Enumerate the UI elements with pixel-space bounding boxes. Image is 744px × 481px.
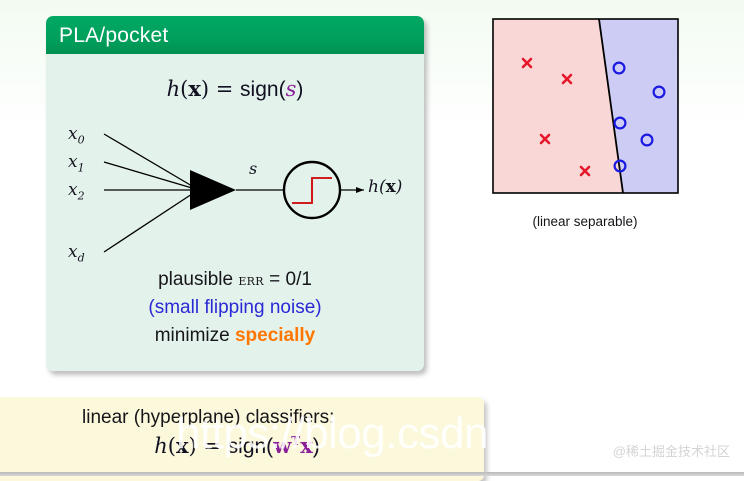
linear-classifiers-heading: linear (hyperplane) classifiers: — [82, 407, 334, 429]
summation-triangle — [190, 170, 236, 210]
bottom-formula-equals: ) = — [189, 434, 228, 458]
pla-pocket-block: PLA/pocket h(x) = sign(s) — [46, 16, 424, 371]
step-function-icon — [292, 178, 332, 203]
signal-label-s: s — [249, 159, 257, 178]
hypothesis-formula: h(x) = sign(s) — [46, 76, 424, 102]
formula-x-bold: x — [188, 76, 201, 101]
wire-x1 — [104, 162, 192, 188]
line-err-suffix: = 0/1 — [264, 269, 312, 290]
bottom-formula-w: w — [273, 433, 291, 458]
input-label-xd: xd — [68, 242, 85, 264]
pla-pocket-title: PLA/pocket — [46, 25, 168, 46]
bottom-formula-x2: x — [300, 433, 313, 458]
formula-h: h — [167, 77, 181, 101]
input-label-x1: x1 — [68, 152, 85, 174]
line-err-token: err — [238, 270, 264, 289]
pla-description-lines: plausible err = 0/1 (small flipping nois… — [46, 266, 424, 350]
line-minimize-prefix: minimize — [155, 325, 235, 346]
bottom-formula-transpose: T — [291, 434, 300, 448]
bottom-edge-strip — [0, 472, 744, 476]
site-watermark: @稀土掘金技术社区 — [613, 441, 730, 460]
formula-s: s — [286, 77, 297, 101]
input-label-x2: x2 — [68, 180, 85, 202]
pla-pocket-body: h(x) = sign(s) — [46, 54, 424, 371]
wire-x0 — [104, 134, 192, 186]
pla-pocket-header: PLA/pocket — [46, 16, 424, 54]
line-flipping-noise: (small flipping noise) — [46, 294, 424, 322]
bottom-formula-x-bold: x — [176, 433, 189, 458]
line-minimize-emphasis: specially — [235, 325, 315, 346]
bottom-formula-paren-close: ) — [313, 435, 320, 458]
scatter-caption: (linear separable) — [470, 214, 700, 229]
output-label-hx: h(x) — [368, 177, 402, 197]
perceptron-diagram: x0 x1 x2 xd s h(x) — [64, 114, 406, 269]
bottom-formula-sign: sign( — [228, 435, 274, 458]
input-label-x0: x0 — [68, 124, 85, 146]
linear-classifier-formula: h(x) = sign(wTx) — [0, 433, 484, 459]
formula-sign: sign( — [240, 78, 286, 101]
formula-paren-close: ) — [296, 78, 303, 101]
formula-equals: ) = — [201, 77, 240, 101]
scatter-svg — [492, 18, 679, 194]
wire-xd — [104, 194, 192, 252]
linear-classifiers-panel: linear (hyperplane) classifiers: h(x) = … — [0, 397, 484, 481]
output-arrowhead — [356, 187, 364, 193]
bottom-formula-h: h — [154, 434, 168, 458]
perceptron-svg — [64, 114, 406, 269]
linear-separable-scatter — [492, 18, 679, 194]
line-minimize: minimize specially — [46, 322, 424, 350]
bottom-formula-paren-open: ( — [168, 434, 176, 458]
line-plausible-err: plausible err = 0/1 — [46, 266, 424, 294]
line-plausible-prefix: plausible — [158, 269, 238, 290]
